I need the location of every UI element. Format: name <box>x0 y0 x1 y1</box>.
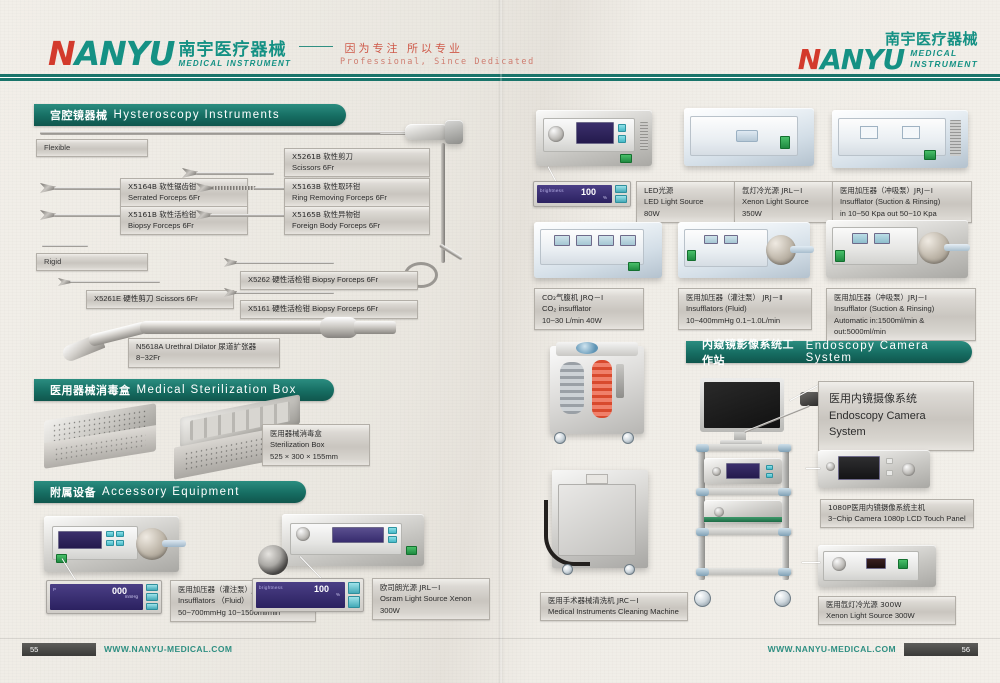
section-header-accessory: 附属设备 Accessory Equipment <box>34 481 306 503</box>
insufflator-fluid-lcd-label: P <box>53 587 56 592</box>
device-camera-1080p <box>818 450 930 488</box>
catalog-page: NANYU 南宇医疗器械 MEDICAL INSTRUMENT 因为专注 所以专… <box>0 0 1000 683</box>
section-sterilization-en: Medical Sterilization Box <box>137 384 297 396</box>
cart-light-source-unit <box>704 500 782 524</box>
label-led-spec: 80W <box>644 208 730 219</box>
page-gutter <box>498 0 504 683</box>
insufflator-fluid-lcd-unit: mmHg <box>125 594 138 599</box>
label-sterilization-box-cn: 医用器械消毒盒 <box>270 428 362 439</box>
flex-ring-coil <box>212 186 256 190</box>
label-insufflator-fluid-2: 医用加压器（灌注泵） JRJ－Ⅱ Insufflators (Fluid) 10… <box>678 288 812 330</box>
device-insufflator-suction-1 <box>832 110 968 168</box>
page-number-right-value: 56 <box>962 645 970 654</box>
label-flex-serrated-en: Serrated Forceps 6Fr <box>128 193 240 204</box>
label-osram-cn: 欧司朗光源 JRL－Ⅰ <box>380 582 482 593</box>
led-lcd-value: 100 <box>581 187 596 197</box>
page-number-left-value: 55 <box>30 645 38 654</box>
section-camera-cn: 内窥镜影像系统工作站 <box>702 336 800 368</box>
label-flex-foreign-cn: X5165B 软性异物钳 <box>292 210 422 221</box>
tagline-english: Professional, Since Dedicated <box>340 57 535 67</box>
rigid-biopsy2-shaft <box>236 292 334 294</box>
label-rigid-scissors-text: X5261E 硬性剪刀 Scissors 6Fr <box>94 294 226 305</box>
brand-sub-right-line2: INSTRUMENT <box>910 59 978 70</box>
label-insufflator-suction-1: 医用加压器（冲吸泵）JRJ－Ⅰ Insufflator (Suction & R… <box>832 181 972 223</box>
device-insufflator-fluid-2 <box>678 222 810 278</box>
label-flex-foreign-en: Foreign Body Forceps 6Fr <box>292 221 422 232</box>
osram-lcd-value: 100 <box>314 584 329 594</box>
label-co2-spec: 10~30 L/min 40W <box>542 315 636 326</box>
label-sterilization-box-size: 525 × 300 × 155mm <box>270 451 362 462</box>
label-co2-insufflator: CO₂气腹机 JRQ－Ⅰ CO₂ insufflator 10~30 L/min… <box>534 288 644 330</box>
hysteroscope-eyepiece <box>445 120 463 144</box>
label-sterilization-box-en: Sterilization Box <box>270 439 362 450</box>
osram-keys[interactable] <box>348 582 360 608</box>
label-camera-1080p: 1080P医用内镜摄像系统主机 3~Chip Camera 1080p LCD … <box>820 499 974 528</box>
label-xenon-spec: 350W <box>742 208 826 219</box>
label-flex-ring-cn: X5163B 软性取环钳 <box>292 182 422 193</box>
label-flex-scissors-cn: X5261B 软性剪刀 <box>292 152 422 163</box>
section-accessory-en: Accessory Equipment <box>102 486 240 498</box>
label-suction2-en: Insufflator (Suction & Rinsing) <box>834 303 968 314</box>
label-camera-system: 医用内镜摄像系统 Endoscopy Camera System <box>818 381 974 451</box>
label-suction2-cn: 医用加压器（冲吸泵）JRJ－Ⅰ <box>834 292 968 303</box>
section-camera-en: Endoscopy Camera System <box>806 340 954 364</box>
label-cleaning-machine: 医用手术器械清洗机 JRC－Ⅰ Medical Instruments Clea… <box>540 592 688 621</box>
label-led-cn: LED光源 <box>644 185 730 196</box>
device-co2-insufflator <box>534 222 662 278</box>
label-fluid2-en: Insufflators (Fluid) <box>686 303 804 314</box>
label-xenon-300w: 医用氙灯冷光源 300W Xenon Light Source 300W <box>818 596 956 625</box>
subhead-flexible-text: Flexible <box>44 143 70 154</box>
device-osram-light-source <box>282 514 424 566</box>
brand-letter-n-right: N <box>798 43 820 76</box>
label-flex-scissors-en: Scissors 6Fr <box>292 163 422 174</box>
label-flex-biopsy-en: Biopsy Forceps 6Fr <box>128 221 240 232</box>
led-keys[interactable] <box>615 185 627 203</box>
brand-letters-anyu-right: ANYU <box>820 43 904 76</box>
label-osram-en: Osram Light Source Xenon <box>380 593 482 604</box>
label-camera-system-en: Endoscopy Camera System <box>829 408 963 441</box>
flex-biopsy-shaft <box>54 214 130 217</box>
subhead-rigid-text: Rigid <box>44 257 61 268</box>
label-flex-scissors: X5261B 软性剪刀 Scissors 6Fr <box>284 148 430 177</box>
light-guide-adapter-icon <box>258 545 288 575</box>
label-rigid-scissors: X5261E 硬性剪刀 Scissors 6Fr <box>86 290 234 309</box>
flex-ring-shaft <box>254 187 288 190</box>
flex-scissors-shaft <box>196 172 274 175</box>
osram-screen: brightness 100 % <box>256 582 345 608</box>
tagline-rule-icon <box>299 46 333 47</box>
brand-latin-left: NANYU <box>48 38 174 69</box>
cart-caster-right <box>774 590 791 607</box>
led-screen: brightness 100 % <box>537 185 612 203</box>
section-hysteroscopy-cn: 宫腔镜器械 <box>50 107 108 123</box>
label-xenon-cn: 氙灯冷光源 JRL－Ⅰ <box>742 185 826 196</box>
sterilization-box-closed <box>40 412 164 472</box>
device-xenon-300w <box>818 545 936 587</box>
brand-letters-anyu: ANYU <box>75 34 175 73</box>
insufflator-fluid-keys[interactable] <box>146 584 158 610</box>
led-lcd-label: brightness <box>540 188 564 193</box>
osram-lcd-unit: % <box>336 592 340 597</box>
label-rigid-biopsy-x5262: X5262 硬性活检钳 Biopsy Forceps 6Fr <box>240 271 418 290</box>
led-lcd-unit: % <box>603 195 607 200</box>
label-fluid2-spec: 10~400mmHg 0.1~1.0L/min <box>686 315 804 326</box>
brand-sub-right-line1: MEDICAL <box>910 48 978 59</box>
label-camera-1080p-cn: 1080P医用内镜摄像系统主机 <box>828 503 966 514</box>
label-co2-en: CO₂ insufflator <box>542 303 636 314</box>
flex-foreign-shaft <box>210 214 288 217</box>
device-insufflator-suction-2 <box>826 220 968 278</box>
label-insufflator-suction-2: 医用加压器（冲吸泵）JRJ－Ⅰ Insufflator (Suction & R… <box>826 288 976 341</box>
device-cleaning-machine-upper <box>542 340 652 450</box>
label-camera-1080p-en: 3~Chip Camera 1080p LCD Touch Panel <box>828 514 966 525</box>
flex-serrated-shaft <box>54 187 130 190</box>
label-suction1-en: Insufflator (Suction & Rinsing) <box>840 196 964 207</box>
leader-xenon-300w <box>802 562 820 563</box>
label-fluid2-cn: 医用加压器（灌注泵） JRJ－Ⅱ <box>686 292 804 303</box>
label-suction1-cn: 医用加压器（冲吸泵）JRJ－Ⅰ <box>840 185 964 196</box>
label-suction2-spec: Automatic in:1500ml/min & out:5000ml/min <box>834 315 968 338</box>
brand-logo-left: NANYU 南宇医疗器械 MEDICAL INSTRUMENT 因为专注 所以专… <box>48 38 535 69</box>
brand-letter-n: N <box>48 34 75 73</box>
osram-lcd-label: brightness <box>259 585 283 590</box>
rigid-scissors-shaft <box>70 281 160 283</box>
label-led-en: LED Light Source <box>644 196 730 207</box>
label-cleaning-en: Medical Instruments Cleaning Machine <box>548 607 680 618</box>
endoscopy-cart <box>694 378 822 616</box>
hysteroscope-body <box>405 124 449 140</box>
label-xenon-en: Xenon Light Source <box>742 196 826 207</box>
device-led-light-source <box>536 110 652 166</box>
label-osram-spec: 300W <box>380 605 482 616</box>
label-osram-light-source: 欧司朗光源 JRL－Ⅰ Osram Light Source Xenon 300… <box>372 578 490 620</box>
label-cleaning-cn: 医用手术器械清洗机 JRC－Ⅰ <box>548 596 680 607</box>
subhead-flexible: Flexible <box>36 139 148 157</box>
leader-camera-1080p <box>806 468 820 469</box>
label-flex-ring: X5163B 软性取环钳 Ring Removing Forceps 6Fr <box>284 178 430 207</box>
label-camera-system-cn: 医用内镜摄像系统 <box>829 391 963 408</box>
section-header-hysteroscopy: 宫腔镜器械 Hysteroscopy Instruments <box>34 104 346 126</box>
section-sterilization-cn: 医用器械消毒盒 <box>50 382 131 398</box>
label-suction1-spec: in 10~50 Kpa out 50~10 Kpa <box>840 208 964 219</box>
callout-insufflator-fluid-lcd: P 000 mmHg <box>46 580 162 614</box>
label-sterilization-box: 医用器械消毒盒 Sterilization Box 525 × 300 × 15… <box>262 424 370 466</box>
brand-latin-right: NANYU <box>798 47 905 74</box>
page-number-right: 56 <box>904 643 978 656</box>
callout-osram-lcd: brightness 100 % <box>252 578 364 612</box>
label-urethral-dilator-text: N5618A Urethral Dilator 尿道扩张器 8~32Fr <box>136 342 272 364</box>
label-flex-biopsy: X5161B 软性活检钳 Biopsy Forceps 6Fr <box>120 206 248 235</box>
brand-chinese-left: 南宇医疗器械 <box>178 42 291 59</box>
page-number-left: 55 <box>22 643 96 656</box>
label-co2-cn: CO₂气腹机 JRQ－Ⅰ <box>542 292 636 303</box>
label-xenon-300w-en: Xenon Light Source 300W <box>826 611 948 622</box>
footer-rule <box>0 638 1000 639</box>
callout-led-lcd: brightness 100 % <box>533 181 631 207</box>
section-header-camera-system: 内窥镜影像系统工作站 Endoscopy Camera System <box>686 341 972 363</box>
label-rigid-biopsy-x5262-text: X5262 硬性活检钳 Biopsy Forceps 6Fr <box>248 275 410 286</box>
cart-caster-left <box>694 590 711 607</box>
brand-sub-left: MEDICAL INSTRUMENT <box>178 59 291 69</box>
label-led-light-source: LED光源 LED Light Source 80W <box>636 181 738 223</box>
insufflator-fluid-screen: P 000 mmHg <box>50 584 143 610</box>
footer-url-right[interactable]: WWW.NANYU-MEDICAL.COM <box>768 643 896 656</box>
label-flex-serrated: X5164B 软性锯齿钳 Serrated Forceps 6Fr <box>120 178 248 207</box>
section-accessory-cn: 附属设备 <box>50 484 96 500</box>
rigid-biopsy1-shaft <box>236 262 334 264</box>
label-xenon-light-source: 氙灯冷光源 JRL－Ⅰ Xenon Light Source 350W <box>734 181 834 223</box>
device-xenon-light-source <box>684 108 814 166</box>
device-cleaning-machine-lower <box>552 470 660 580</box>
brand-logo-right: 南宇医疗器械 NANYU MEDICAL INSTRUMENT <box>798 32 978 74</box>
label-xenon-300w-cn: 医用氙灯冷光源 300W <box>826 600 948 611</box>
label-urethral-dilator: N5618A Urethral Dilator 尿道扩张器 8~32Fr <box>128 338 280 368</box>
section-hysteroscopy-en: Hysteroscopy Instruments <box>114 109 281 121</box>
cart-camera-unit <box>704 458 782 484</box>
cart-monitor <box>700 378 784 432</box>
label-flex-foreign: X5165B 软性异物钳 Foreign Body Forceps 6Fr <box>284 206 430 235</box>
rigid-top-shaft <box>42 245 88 247</box>
label-flex-ring-en: Ring Removing Forceps 6Fr <box>292 193 422 204</box>
tagline-chinese: 因为专注 所以专业 <box>345 42 464 55</box>
subhead-rigid: Rigid <box>36 253 148 271</box>
footer-url-left[interactable]: WWW.NANYU-MEDICAL.COM <box>104 643 232 656</box>
